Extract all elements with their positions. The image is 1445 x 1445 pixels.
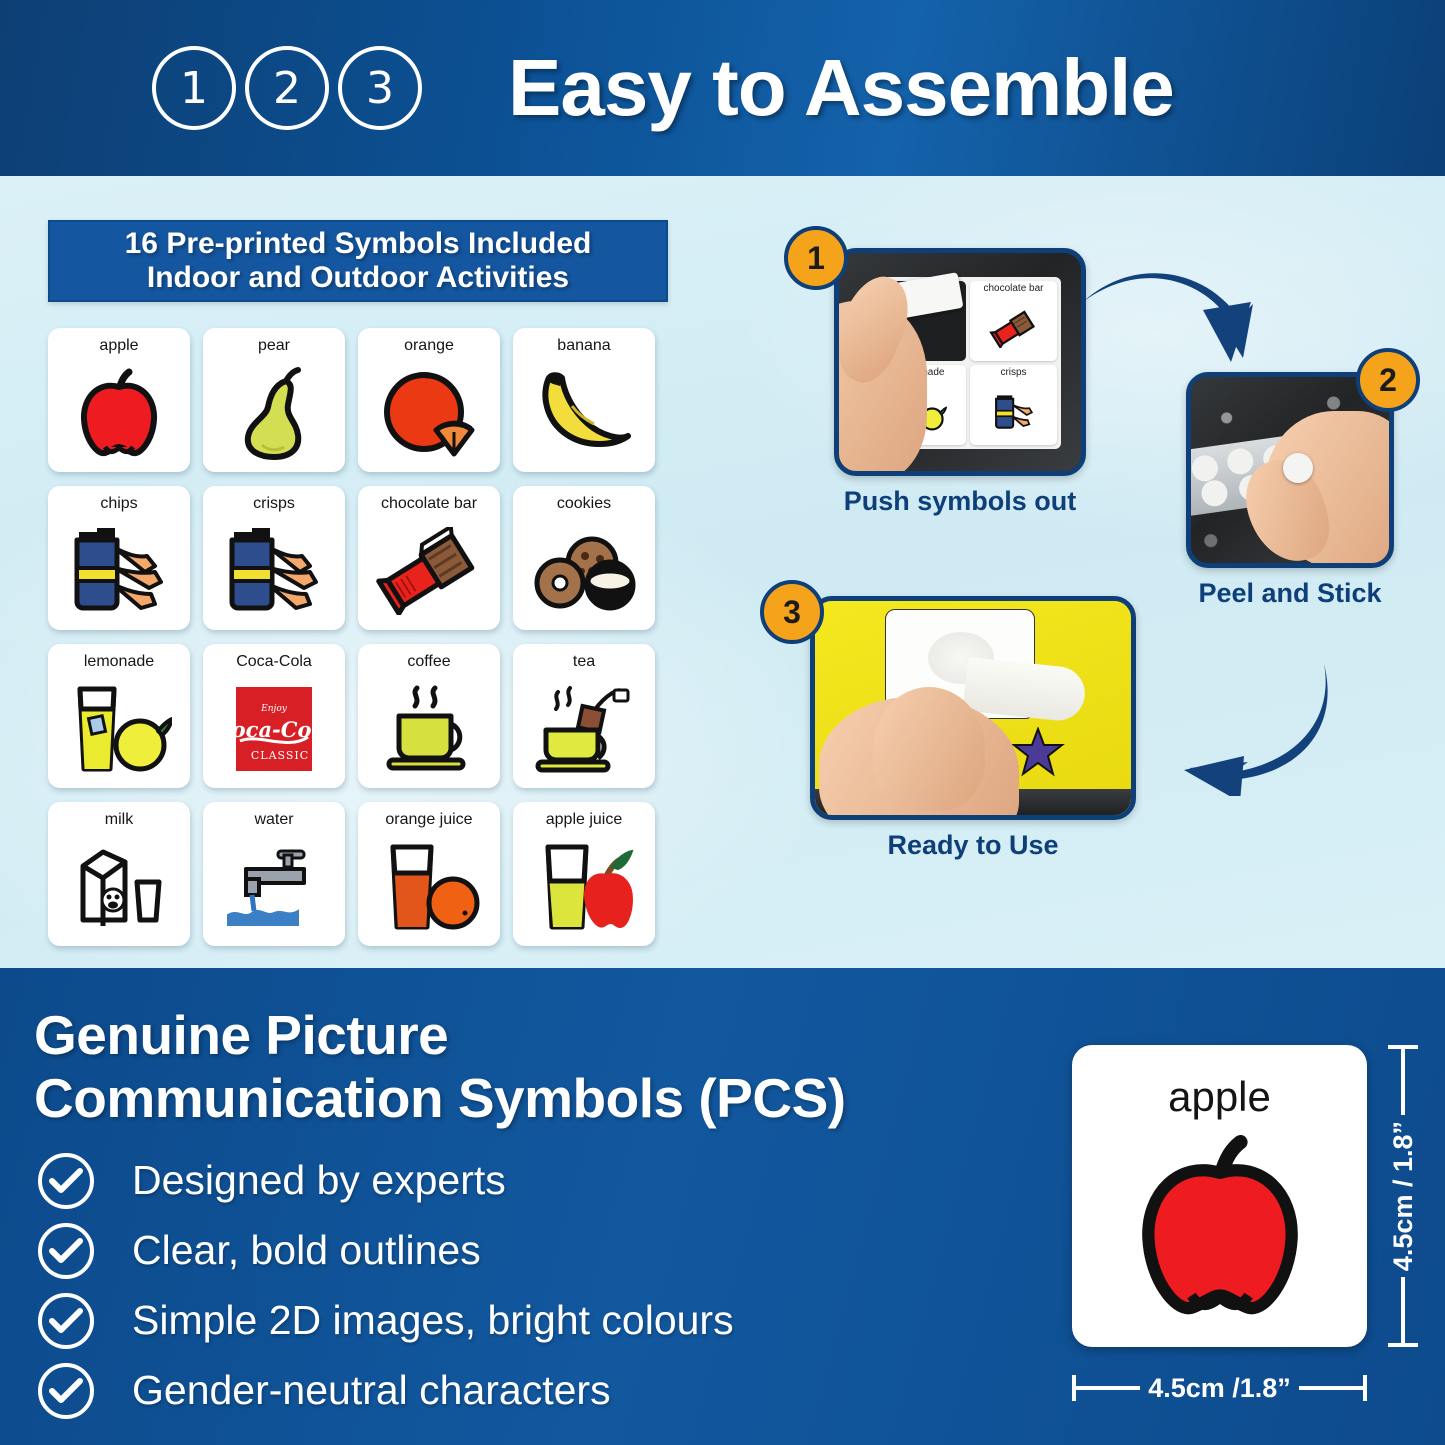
apple-juice-icon — [513, 828, 655, 946]
step-2-caption: Peel and Stick — [1186, 578, 1394, 609]
dimension-cap-right — [1363, 1375, 1367, 1401]
peeled-velcro-dot — [1283, 453, 1313, 483]
pcs-title-line2: Communication Symbols (PCS) — [34, 1067, 846, 1129]
step-3-badge: 3 — [760, 580, 824, 644]
symbol-card-coca-cola[interactable]: Coca-Cola Enjoy Coca-Cola CLASSIC — [203, 644, 345, 788]
header-number-1: 1 — [152, 46, 236, 130]
dimension-width-label: 4.5cm /1.8” — [1140, 1373, 1299, 1404]
dimension-width: 4.5cm /1.8” — [1072, 1368, 1367, 1408]
crisps-icon — [203, 512, 345, 630]
pear-icon — [203, 354, 345, 472]
dimension-line — [1401, 1049, 1405, 1115]
page-header: 1 2 3 Easy to Assemble — [0, 0, 1445, 176]
symbol-card-grid: apple pear orange — [48, 328, 655, 946]
symbol-card-milk[interactable]: milk — [48, 802, 190, 946]
step-1-photo: chocolate bar lemonade — [834, 248, 1086, 476]
symbol-card-label: crisps — [253, 496, 295, 512]
header-number-2-label: 2 — [273, 63, 301, 114]
chocolate-bar-icon — [985, 294, 1043, 361]
cookies-icon — [513, 512, 655, 630]
purple-star-icon — [1011, 727, 1065, 782]
step-3-photo — [810, 596, 1136, 820]
check-icon — [38, 1363, 94, 1419]
apple-icon — [48, 354, 190, 472]
thumb — [873, 687, 985, 811]
page-title: Easy to Assemble — [508, 42, 1174, 134]
feature-label: Simple 2D images, bright colours — [132, 1297, 734, 1344]
symbol-card-label: orange — [404, 338, 454, 354]
symbol-card-lemonade[interactable]: lemonade — [48, 644, 190, 788]
check-icon — [38, 1293, 94, 1349]
symbol-card-apple-juice[interactable]: apple juice — [513, 802, 655, 946]
symbols-banner-line2: Indoor and Outdoor Activities — [147, 261, 569, 295]
feature-label: Clear, bold outlines — [132, 1227, 481, 1274]
symbols-banner: 16 Pre-printed Symbols Included Indoor a… — [48, 220, 668, 302]
header-number-2: 2 — [245, 46, 329, 130]
check-icon — [38, 1223, 94, 1279]
orange-icon — [358, 354, 500, 472]
apple-icon — [1130, 1131, 1310, 1326]
arrow-step1-to-step2 — [1075, 266, 1265, 386]
symbol-card-orange-juice[interactable]: orange juice — [358, 802, 500, 946]
symbol-card-label: chocolate bar — [381, 496, 477, 512]
symbol-card-banana[interactable]: banana — [513, 328, 655, 472]
symbol-card-label: milk — [105, 812, 133, 828]
header-number-1-label: 1 — [180, 63, 208, 114]
dimension-height: 4.5cm / 1.8” — [1378, 1045, 1428, 1347]
symbol-card-label: cookies — [557, 496, 611, 512]
step-1-panel: 1 chocolate bar le — [790, 248, 1070, 517]
symbol-card-crisps[interactable]: crisps — [203, 486, 345, 630]
lemonade-icon — [48, 670, 190, 788]
symbol-card-label: apple — [99, 338, 138, 354]
chips-icon — [48, 512, 190, 630]
dimension-line — [1299, 1386, 1363, 1390]
pcs-title-line1: Genuine Picture — [34, 1004, 448, 1066]
symbol-card-chips[interactable]: chips — [48, 486, 190, 630]
step-1-number: 1 — [807, 240, 825, 277]
symbol-card-tea[interactable]: tea — [513, 644, 655, 788]
banana-icon — [513, 354, 655, 472]
step-3-number: 3 — [783, 594, 801, 631]
step-2-badge: 2 — [1356, 348, 1420, 412]
symbol-card-label: water — [254, 812, 293, 828]
symbol-card-label: lemonade — [84, 654, 154, 670]
dimension-cap-bottom — [1388, 1343, 1418, 1347]
symbol-card-coffee[interactable]: coffee — [358, 644, 500, 788]
orange-juice-icon — [358, 828, 500, 946]
coca-cola-icon: Enjoy Coca-Cola CLASSIC — [203, 670, 345, 788]
header-step-numbers: 1 2 3 — [152, 46, 422, 130]
step-3-caption: Ready to Use — [810, 830, 1136, 861]
arrow-step2-to-step3 — [1148, 656, 1338, 801]
water-icon — [203, 828, 345, 946]
crisps-icon — [987, 378, 1041, 445]
check-icon — [38, 1153, 94, 1209]
symbol-card-pear[interactable]: pear — [203, 328, 345, 472]
symbol-card-label: coffee — [407, 654, 450, 670]
step-2-photo — [1186, 372, 1394, 568]
feature-label: Designed by experts — [132, 1157, 506, 1204]
tea-icon — [513, 670, 655, 788]
symbol-card-label: Coca-Cola — [236, 654, 312, 670]
header-number-3: 3 — [338, 46, 422, 130]
svg-text:CLASSIC: CLASSIC — [251, 749, 309, 762]
chocolate-bar-icon — [358, 512, 500, 630]
symbol-card-label: apple juice — [546, 812, 623, 828]
mini-card-crisps: crisps — [970, 365, 1057, 445]
step-3-panel: 3 Ready to Use — [760, 596, 1136, 861]
mini-card-label: chocolate bar — [983, 284, 1043, 294]
step-2-panel: 2 Peel and Stick — [1186, 372, 1416, 609]
step-2-number: 2 — [1379, 362, 1397, 399]
dimension-line — [1076, 1386, 1140, 1390]
symbols-banner-line1: 16 Pre-printed Symbols Included — [125, 227, 592, 261]
symbol-card-label: chips — [100, 496, 137, 512]
symbol-card-water[interactable]: water — [203, 802, 345, 946]
product-card-label: apple — [1168, 1073, 1271, 1121]
dimension-height-label: 4.5cm / 1.8” — [1388, 1115, 1419, 1277]
mini-card-chocolate-bar: chocolate bar — [970, 281, 1057, 361]
symbol-card-label: tea — [573, 654, 595, 670]
svg-text:Enjoy: Enjoy — [260, 704, 288, 714]
symbol-card-chocolate-bar[interactable]: chocolate bar — [358, 486, 500, 630]
symbol-card-label: banana — [557, 338, 610, 354]
mini-card-label: crisps — [1000, 368, 1026, 378]
milk-icon — [48, 828, 190, 946]
symbol-card-apple[interactable]: apple — [48, 328, 190, 472]
symbol-card-orange[interactable]: orange — [358, 328, 500, 472]
symbol-card-label: orange juice — [385, 812, 472, 828]
assembly-section: 16 Pre-printed Symbols Included Indoor a… — [0, 176, 1445, 968]
step-1-badge: 1 — [784, 226, 848, 290]
dimension-line — [1401, 1277, 1405, 1343]
symbol-card-label: pear — [258, 338, 290, 354]
header-number-3-label: 3 — [366, 63, 394, 114]
symbol-card-cookies[interactable]: cookies — [513, 486, 655, 630]
coffee-icon — [358, 670, 500, 788]
product-symbol-card: apple — [1072, 1045, 1367, 1347]
feature-label: Gender-neutral characters — [132, 1367, 611, 1414]
step-1-caption: Push symbols out — [834, 486, 1086, 517]
